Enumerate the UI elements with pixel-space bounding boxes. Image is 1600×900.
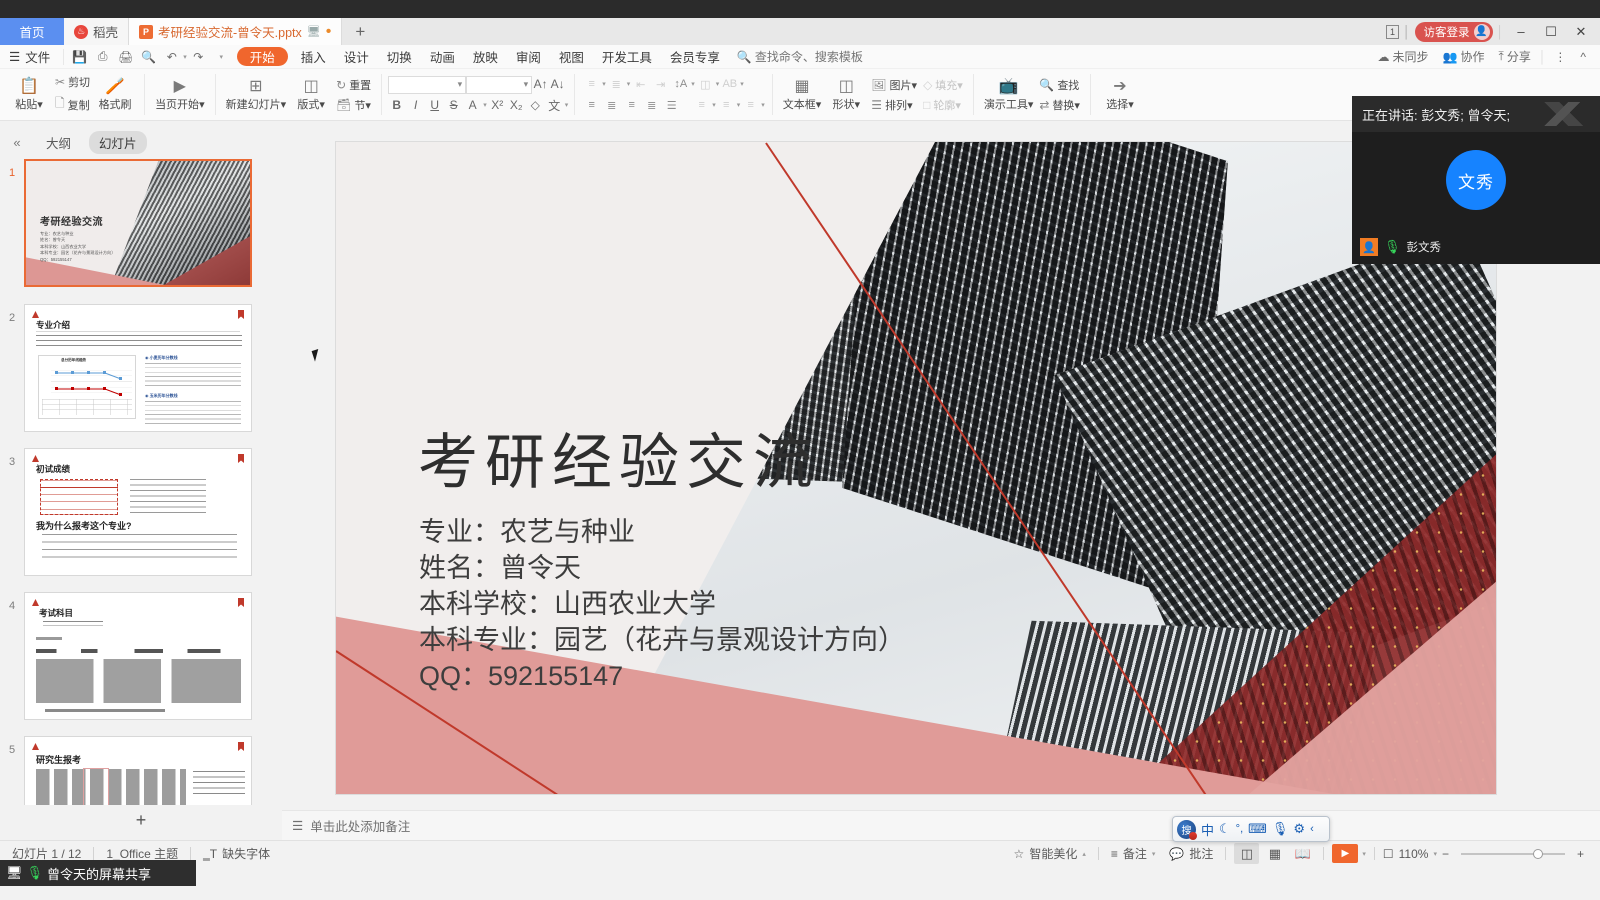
outline-button[interactable]: □ 轮廓▾ [920,96,966,114]
thumb-text-lines [36,335,242,348]
speaking-label: 正在讲话: 彭文秀; 曾令天; [1362,105,1510,124]
thumb-title: 专业介绍 [36,319,70,331]
meeting-speaking-header: 正在讲话: 彭文秀; 曾令天; [1352,96,1600,132]
pinyin-icon[interactable]: 文 [546,97,563,114]
align-left-icon[interactable]: ≡ [582,97,601,114]
redo-icon[interactable]: ↷ [187,46,210,68]
tab-design[interactable]: 设计 [335,45,378,69]
document-tab-label: 稻壳 [93,22,118,41]
justify-icon[interactable]: ≣ [642,97,661,114]
guest-login-button[interactable]: 访客登录 👤 [1415,22,1493,42]
play-icon[interactable]: ▶ [1332,844,1358,863]
italic-icon[interactable]: I [407,97,424,114]
comment-icon: 💬 [1169,847,1184,861]
close-icon[interactable]: ✕ [1568,20,1594,44]
slide-thumbnail-4[interactable]: 考试科目 [24,592,252,720]
add-slide-button[interactable]: + [0,805,282,835]
print-icon[interactable]: 🖨 [114,46,137,68]
gear-icon[interactable]: ⚙ [1293,821,1305,837]
bold-icon[interactable]: B [388,97,405,114]
pinyin-caret-icon[interactable]: ▾ [565,101,569,109]
present-monitor-icon[interactable]: 🖥 [307,25,321,38]
copy-icon: 🗋 [55,94,65,115]
distribute-icon[interactable]: ☰ [662,97,681,114]
guest-login-label: 访客登录 [1424,24,1470,40]
slide-thumbnail-5[interactable]: 研究生报考 [24,736,252,805]
new-slide-button[interactable]: ⊞ 新建幻灯片▾ [223,69,290,120]
zoom-in-icon[interactable]: + [1577,847,1584,861]
new-slide-icon: ⊞ [249,78,262,95]
tab-start[interactable]: 开始 [237,47,288,66]
select-button[interactable]: ➔ 选择▾ [1098,69,1142,120]
layout-button[interactable]: ◫ 版式▾ [289,69,333,120]
tab-insert[interactable]: 插入 [292,45,335,69]
slide-panel-header: « 大纲 幻灯片 [0,130,290,154]
titlebar-right-controls: 1 │ 访客登录 👤 │ – ☐ ✕ [1386,18,1600,45]
select-icon: ➔ [1113,78,1126,95]
mic-on-icon[interactable]: 🎙 [27,865,44,881]
tab-outline[interactable]: 大纲 [36,131,81,154]
scissors-icon: ✂ [55,75,65,89]
meeting-video-overlay[interactable]: 正在讲话: 彭文秀; 曾令天; 文秀 👤 🎙 彭文秀 [1352,96,1600,264]
slide-thumbnail-2[interactable]: 专业介绍 总分历年线趋势 ◉ 小麦历年分数线 ◉ 玉米历年分数线 [24,304,252,432]
chevron-up-icon[interactable]: ^ [1574,50,1592,64]
ribbon-group-font: ▾ ▾ A↑ A↓ B I U S A ▾ X² X₂ ◇ 文 ▾ [385,69,571,120]
meeting-participant-row: 👤 🎙 彭文秀 [1360,238,1441,256]
play-circle-icon: ▶ [174,78,186,95]
maximize-icon[interactable]: ☐ [1538,20,1564,44]
window-titlebar [0,0,1600,18]
arrange-button[interactable]: ☰ 排列▾ [868,96,920,114]
thumb-chart: 总分历年线趋势 [38,355,136,419]
thumb-subtitle: 我为什么报考这个专业? [36,519,132,532]
section-button[interactable]: 🗃 节▾ [333,96,374,114]
meeting-video-tile[interactable]: 文秀 👤 🎙 彭文秀 [1352,132,1600,264]
undo-icon[interactable]: ↶ [160,46,183,68]
search-icon: 🔍 [737,50,752,64]
cloud-sync-icon: ☁ [1378,50,1390,64]
format-brush-button[interactable]: 🪥 格式刷 [93,69,137,120]
outline-icon: □ [923,98,930,112]
thumb-table-highlight [83,768,109,805]
sync-status[interactable]: ☁ 未同步 [1372,48,1435,65]
copy-button[interactable]: 🗋 复制 [52,93,93,116]
search-input[interactable]: 🔍 查找命令、搜索模板 [729,48,863,65]
superscript-icon[interactable]: X² [489,97,506,114]
triangle-mark-icon [32,599,39,606]
flag-mark-icon [238,454,244,463]
ribbon-group-clipboard: 📋 粘贴▾ ✂ 剪切 🗋 复制 🪥 格式刷 [2,69,141,120]
ribbon-group-tools: 📺 演示工具▾ 🔍 查找 ⇄ 替换▾ [977,69,1087,120]
shapes-icon: ◫ [839,78,854,95]
font-size-input[interactable]: ▾ [466,76,532,94]
home-tab[interactable]: 首页 [0,18,64,45]
window-count-badge[interactable]: 1 [1386,25,1399,39]
flag-mark-icon [238,742,244,751]
collaborate-button[interactable]: 👥 协作 [1437,48,1491,65]
slide-body-line: 本科专业：园艺（花卉与景观设计方向） [419,622,905,658]
thumb-score-table [40,479,118,515]
font-name-input[interactable]: ▾ [388,76,466,94]
slide-number: 2 [0,304,24,324]
triangle-mark-icon [32,455,39,462]
menu-bar: ☰ 文件 💾 ⎙ 🖨 🔍 ↶ ▾ ↷ ▾ 开始 插入 设计 切换 动画 放映 审… [0,45,1600,69]
screen-share-icon: 🖥 [6,865,23,881]
document-tab-pptx[interactable]: P 考研经验交流-曾令天.pptx 🖥 • [129,18,342,45]
shrink-font-icon[interactable]: A↓ [549,76,566,93]
document-tab-label: 考研经验交流-曾令天.pptx [158,22,302,41]
paragraph-spacing-icon[interactable]: ≡ [741,97,760,114]
notes-placeholder: 单击此处添加备注 [310,816,410,835]
thumb-title: 研究生报考 [36,753,81,766]
find-icon: 🔍 [1039,78,1054,92]
slide-body-line: 本科学校：山西农业大学 [419,586,905,622]
more-vertical-icon[interactable]: ⋮ [1548,50,1572,64]
present-tools-icon: 📺 [999,78,1019,95]
list-item[interactable]: 4 考试科目 [0,592,282,720]
underline-icon[interactable]: U [426,97,443,114]
shapes-button[interactable]: ◫ 形状▾ [824,69,868,120]
start-from-current-button[interactable]: ▶ 当页开始▾ [152,69,208,120]
picture-icon: 🖼 [871,78,886,92]
find-button[interactable]: 🔍 查找 [1036,76,1083,94]
slide-number: 4 [0,592,24,612]
reading-view-icon[interactable]: 📖 [1290,843,1315,864]
print-preview-icon[interactable]: ⎙ [91,46,114,68]
tab-view[interactable]: 视图 [550,45,593,69]
save-icon[interactable]: 💾 [68,46,91,68]
unsaved-dot-icon: • [326,27,332,37]
share-button[interactable]: ⤒ 分享 [1493,48,1537,65]
moon-icon[interactable]: ☾ [1219,821,1231,837]
zoom-slider[interactable] [1461,853,1565,855]
reset-icon: ↻ [336,78,346,92]
comments-button[interactable]: 💬 批注 [1167,845,1225,862]
minimize-icon[interactable]: – [1508,20,1534,44]
clear-format-icon[interactable]: ◇ [527,97,544,114]
current-slide[interactable]: 考研经验交流 专业：农艺与种业 姓名：曾令天 本科学校：山西农业大学 本科专业：… [336,142,1496,794]
file-menu-label: 文件 [25,47,50,66]
paste-icon: 📋 [19,78,39,95]
sogou-ime-icon[interactable]: 搜 [1177,820,1196,839]
hamburger-icon[interactable]: ☰ 文件 [0,45,59,69]
grow-font-icon[interactable]: A↑ [532,76,549,93]
menu-right-group: ☁ 未同步 👥 协作 ⤒ 分享 │ ⋮ ^ [1372,48,1600,65]
participant-name: 彭文秀 [1407,239,1442,255]
ime-toolbar[interactable]: 搜 中 ☾ °, ⌨ 🎙 ⚙ ‹ [1172,816,1330,842]
thumb-table-body [36,659,241,703]
search-placeholder: 查找命令、搜索模板 [755,48,863,65]
document-tab-bar: 首页 ♨ 稻壳 P 考研经验交流-曾令天.pptx 🖥 • + 1 │ 访客登录… [0,18,1600,45]
section-icon: 🗃 [336,98,351,112]
punctuation-icon[interactable]: °, [1236,823,1243,835]
tab-transition[interactable]: 切换 [378,45,421,69]
list-level-icon[interactable]: ≡ [692,97,711,114]
slide-sorter-icon[interactable]: ▦ [1262,843,1287,864]
notes-toggle-icon: ≡ [1111,847,1118,861]
bullet-list-icon[interactable]: ≡ [582,76,601,93]
paragraph-indent-icon[interactable]: ≡ [717,97,736,114]
arrange-icon: ☰ [871,98,882,112]
thumb-bullets [42,534,237,564]
layout-icon: ◫ [304,78,319,95]
fit-slide-icon[interactable]: ☐ [1383,847,1394,861]
document-tab-docer[interactable]: ♨ 稻壳 [64,18,129,45]
chevron-left-icon[interactable]: ‹ [1310,823,1314,835]
ribbon-group-paragraph: ≡ ▾ ≣ ▾ ⇤ ⇥ ↕A ▾ ◫ ▾ AB ▾ ≡ ≣ ≡ ≣ ☰ ≡ ▾ … [578,69,769,120]
flame-icon: ♨ [74,25,88,39]
keyboard-icon[interactable]: ⌨ [1248,821,1267,837]
missing-font-status[interactable]: ‗T 缺失字体 [191,845,282,862]
ime-mode-toggle[interactable]: 中 [1201,820,1214,839]
user-icon: 👤 [1360,238,1378,256]
increase-indent-icon[interactable]: ⇥ [651,76,670,93]
tab-label: 开始 [250,47,275,66]
home-tab-label: 首页 [19,22,44,41]
column-icon[interactable]: ◫ [696,76,715,93]
thumb-table [36,769,186,805]
picture-button[interactable]: 🖼 图片▾ [868,76,920,94]
align-right-icon[interactable]: ≡ [622,97,641,114]
flag-mark-icon [238,310,244,319]
thumb-table-block: ◉ 小麦历年分数线 ◉ 玉米历年分数线 [145,355,241,427]
format-brush-icon: 🪥 [105,78,125,95]
line-spacing-icon[interactable]: ↕A [671,76,690,93]
number-list-icon[interactable]: ≣ [607,76,626,93]
chevron-double-left-icon[interactable]: « [6,135,28,150]
thumb-title: 考试科目 [39,607,73,619]
tab-developer[interactable]: 开发工具 [593,45,661,69]
avatar: 文秀 [1446,150,1506,210]
flag-mark-icon [238,598,244,607]
ribbon-group-select: ➔ 选择▾ [1094,69,1146,120]
slide-body-line: QQ：592155147 [419,658,905,694]
align-center-icon[interactable]: ≣ [602,97,621,114]
paste-button[interactable]: 📋 粘贴▾ [6,69,52,120]
tab-review[interactable]: 审阅 [507,45,550,69]
ribbon-group-present: ▶ 当页开始▾ [148,69,212,120]
share-label: 曾令天的屏幕共享 [47,864,151,883]
slide-body-line: 姓名：曾令天 [419,550,905,586]
list-item[interactable]: 3 初试成绩 我为什么报考这个专业? [0,448,282,576]
replace-icon: ⇄ [1039,98,1049,112]
thumb-title: 初试成绩 [36,463,70,475]
search-doc-icon[interactable]: 🔍 [137,46,160,68]
share-icon: ⤒ [1499,49,1504,64]
tab-slideshow[interactable]: 放映 [464,45,507,69]
slide-body-line: 专业：农艺与种业 [419,514,905,550]
list-item[interactable]: 2 专业介绍 总分历年线趋势 ◉ 小麦历年分数线 ◉ [0,304,282,432]
fill-icon: ◇ [923,78,932,92]
pptx-file-icon: P [139,25,153,39]
font-color-caret-icon[interactable]: ▾ [483,101,487,109]
subscript-icon[interactable]: X₂ [508,97,525,114]
tab-slides[interactable]: 幻灯片 [89,131,147,154]
slide-thumbnail-1[interactable]: 考研经验交流 专业：农艺与种业 姓名：曾令天 本科学校：山西农业大学 本科专业：… [24,159,252,287]
zoom-level[interactable]: 110% [1399,847,1429,861]
zoom-slider-handle[interactable] [1533,849,1543,859]
mic-on-icon[interactable]: 🎙 [1384,239,1401,255]
slide-number: 1 [0,159,24,179]
slide-body[interactable]: 专业：农艺与种业 姓名：曾令天 本科学校：山西农业大学 本科专业：园艺（花卉与景… [419,514,905,694]
present-tools-button[interactable]: 📺 演示工具▾ [981,69,1037,120]
ribbon-group-slides: ⊞ 新建幻灯片▾ ◫ 版式▾ ↻ 重置 🗃 节▾ [219,69,379,120]
cut-button[interactable]: ✂ 剪切 [52,73,93,91]
customize-quick-access-icon[interactable]: ▾ [210,46,233,68]
replace-button[interactable]: ⇄ 替换▾ [1036,96,1083,114]
reset-button[interactable]: ↻ 重置 [333,76,374,94]
decrease-indent-icon[interactable]: ⇤ [631,76,650,93]
thumb-analysis-text [130,479,206,513]
thumb-side-notes [193,771,245,797]
triangle-mark-icon [32,743,39,750]
font-color-icon[interactable]: A [464,97,481,114]
microphone-icon[interactable]: 🎙 [1272,821,1289,837]
strikethrough-icon[interactable]: S [445,97,462,114]
notes-toggle-button[interactable]: ≡ 备注 ▾ [1099,845,1168,862]
slide-number: 3 [0,448,24,468]
slide-number: 5 [0,736,24,756]
thumb-title: 考研经验交流 [40,213,103,228]
zoom-out-icon[interactable]: − [1442,847,1449,861]
notes-icon: ☰ [292,818,303,833]
font-warning-icon: ‗T [203,847,217,861]
ribbon-group-insert: ▦ 文本框▾ ◫ 形状▾ 🖼 图片▾ ☰ 排列▾ ◇ 填充▾ □ 轮廓▾ [776,69,970,120]
triangle-mark-icon [32,311,39,318]
text-direction-icon[interactable]: AB [720,76,739,93]
beautify-button[interactable]: ☆ 智能美化 ▴ [1002,845,1098,862]
status-bar-right: ☆ 智能美化 ▴ ≡ 备注 ▾ 💬 批注 ◫ ▦ 📖 ▶ ▾ ☐ 110% [1002,843,1600,864]
slide-thumbnail-3[interactable]: 初试成绩 我为什么报考这个专业? [24,448,252,576]
meeting-logo-icon [1528,102,1588,126]
thumb-table-header [36,649,241,653]
screen-share-badge[interactable]: 🖥 🎙 曾令天的屏幕共享 [0,860,196,886]
status-bar: 幻灯片 1 / 12 1_Office 主题 ‗T 缺失字体 ☆ 智能美化 ▴ … [0,840,1600,866]
list-item[interactable]: 5 研究生报考 [0,736,282,805]
tab-member[interactable]: 会员专享 [661,45,729,69]
slide-title[interactable]: 考研经验交流 [418,414,820,501]
notes-pane[interactable]: ☰ 单击此处添加备注 [282,810,1600,840]
collaborate-icon: 👥 [1443,50,1458,64]
normal-view-icon[interactable]: ◫ [1234,843,1259,864]
new-tab-button[interactable]: + [342,18,378,45]
slide-thumbnail-panel[interactable]: 1 考研经验交流 专业：农艺与种业 姓名：曾令天 本科学校：山西农业大学 本科专… [0,155,282,805]
list-item[interactable]: 1 考研经验交流 专业：农艺与种业 姓名：曾令天 本科学校：山西农业大学 本科专… [0,159,282,287]
fill-button[interactable]: ◇ 填充▾ [920,76,966,94]
tab-animation[interactable]: 动画 [421,45,464,69]
textbox-button[interactable]: ▦ 文本框▾ [780,69,825,120]
sparkle-icon: ☆ [1014,847,1025,861]
textbox-icon: ▦ [794,78,809,95]
avatar: 👤 [1474,24,1490,40]
